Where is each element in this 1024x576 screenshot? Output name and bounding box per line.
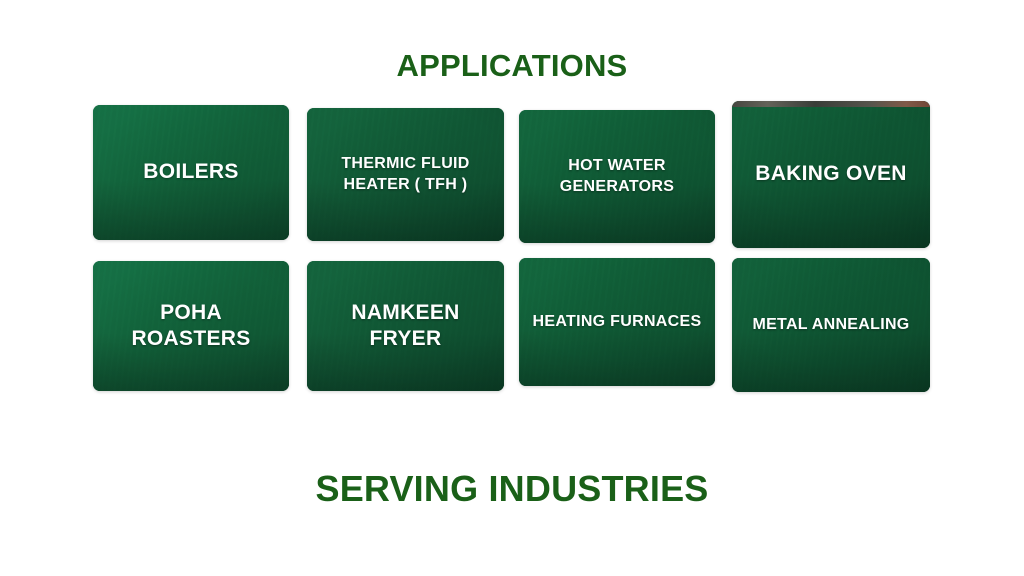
application-card-label: THERMIC FLUID HEATER ( TFH ) (333, 154, 477, 194)
application-card-label: BAKING OVEN (747, 161, 914, 187)
application-card-metal-annealing[interactable]: METAL ANNEALING (732, 258, 930, 392)
application-card-label: METAL ANNEALING (744, 315, 917, 335)
application-card-label: BOILERS (135, 159, 246, 185)
application-card-label: HEATING FURNACES (525, 312, 710, 332)
application-card-label: NAMKEEN FRYER (307, 300, 504, 353)
application-card-baking-oven[interactable]: BAKING OVEN (732, 101, 930, 248)
application-card-label: POHA ROASTERS (93, 300, 289, 353)
application-card-hot-water-generators[interactable]: HOT WATER GENERATORS (519, 110, 715, 243)
application-card-label-line1: HOT WATER (560, 156, 674, 176)
slide-canvas: APPLICATIONS BOILERS THERMIC FLUID HEATE… (0, 0, 1024, 576)
application-card-label: HOT WATER GENERATORS (552, 156, 682, 196)
card-top-band (732, 101, 930, 107)
application-card-poha-roasters[interactable]: POHA ROASTERS (93, 261, 289, 391)
application-card-label-line2: GENERATORS (560, 177, 674, 197)
application-card-label-line1: THERMIC FLUID (341, 154, 469, 174)
page-title-applications: APPLICATIONS (0, 48, 1024, 84)
application-card-label-line2: HEATER ( TFH ) (341, 175, 469, 195)
application-card-boilers[interactable]: BOILERS (93, 105, 289, 240)
application-card-namkeen-fryer[interactable]: NAMKEEN FRYER (307, 261, 504, 391)
page-title-serving-industries: SERVING INDUSTRIES (0, 468, 1024, 510)
application-card-thermic-fluid-heater[interactable]: THERMIC FLUID HEATER ( TFH ) (307, 108, 504, 241)
application-card-heating-furnaces[interactable]: HEATING FURNACES (519, 258, 715, 386)
